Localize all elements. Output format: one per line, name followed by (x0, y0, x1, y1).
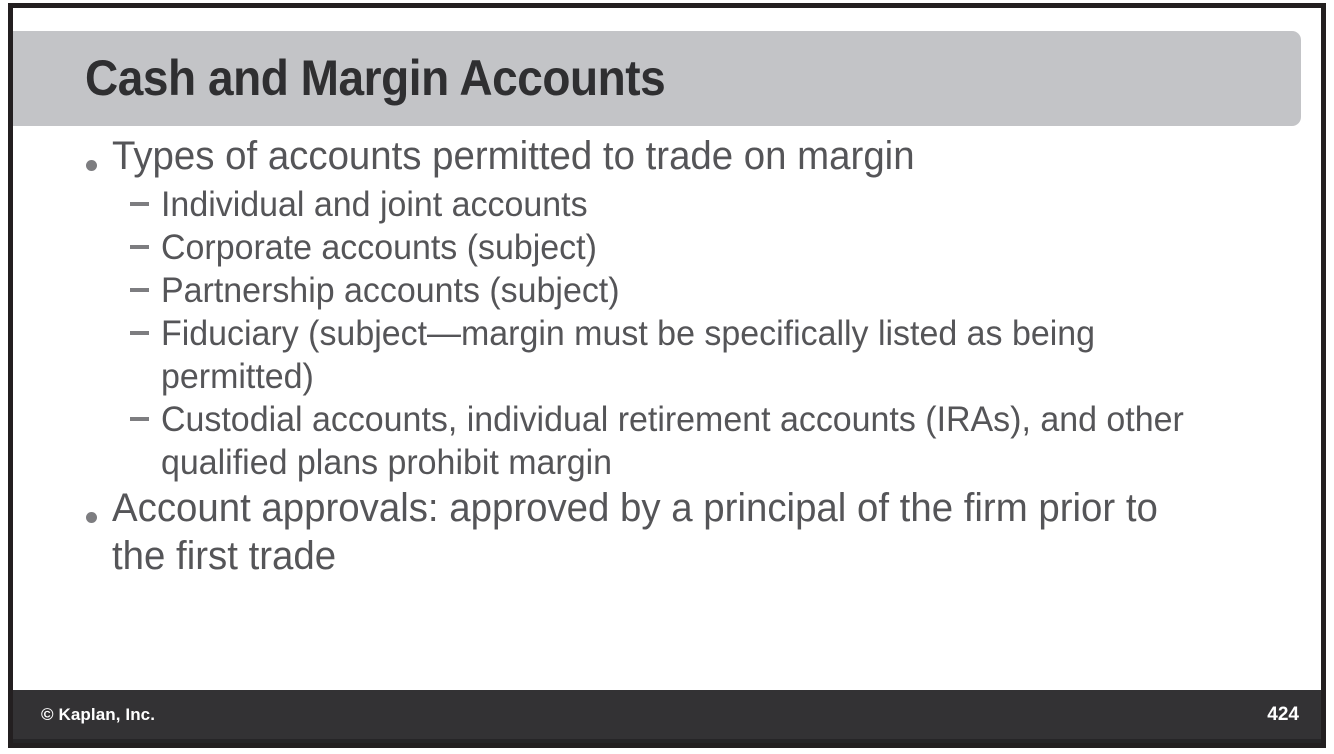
bullet-text: Partnership accounts (subject) (161, 269, 620, 312)
bullet-item-level2: Partnership accounts (subject) (13, 269, 1311, 312)
bullet-item-level2: Individual and joint accounts (13, 183, 1311, 226)
slide-body: Types of accounts permitted to trade on … (13, 132, 1311, 677)
slide-frame: Cash and Margin Accounts Types of accoun… (8, 3, 1326, 748)
en-dash-icon (130, 312, 161, 335)
bullet-text: Custodial accounts, individual retiremen… (161, 398, 1218, 484)
bullet-dot-icon (86, 484, 112, 534)
slide-title-band: Cash and Margin Accounts (13, 31, 1301, 126)
bullet-item-level2: Custodial accounts, individual retiremen… (13, 398, 1311, 484)
slide-title: Cash and Margin Accounts (85, 52, 665, 105)
bullet-item-level1: Account approvals: approved by a princip… (13, 484, 1311, 580)
bullet-text: Corporate accounts (subject) (161, 226, 597, 269)
bullet-item-level2: Corporate accounts (subject) (13, 226, 1311, 269)
bullet-text: Account approvals: approved by a princip… (112, 484, 1168, 580)
en-dash-icon (130, 398, 161, 421)
copyright-label: © Kaplan, Inc. (41, 705, 155, 725)
bullet-item-level1: Types of accounts permitted to trade on … (13, 132, 1311, 182)
page-number: 424 (1267, 704, 1299, 726)
bullet-text: Fiduciary (subject—margin must be specif… (161, 312, 1218, 398)
en-dash-icon (130, 269, 161, 292)
bullet-text: Types of accounts permitted to trade on … (112, 132, 915, 180)
bullet-item-level2: Fiduciary (subject—margin must be specif… (13, 312, 1311, 398)
en-dash-icon (130, 183, 161, 206)
bullet-text: Individual and joint accounts (161, 183, 588, 226)
slide-footer: © Kaplan, Inc. 424 (13, 690, 1321, 743)
en-dash-icon (130, 226, 161, 249)
bullet-dot-icon (86, 132, 112, 182)
slide-canvas: Cash and Margin Accounts Types of accoun… (13, 8, 1321, 743)
